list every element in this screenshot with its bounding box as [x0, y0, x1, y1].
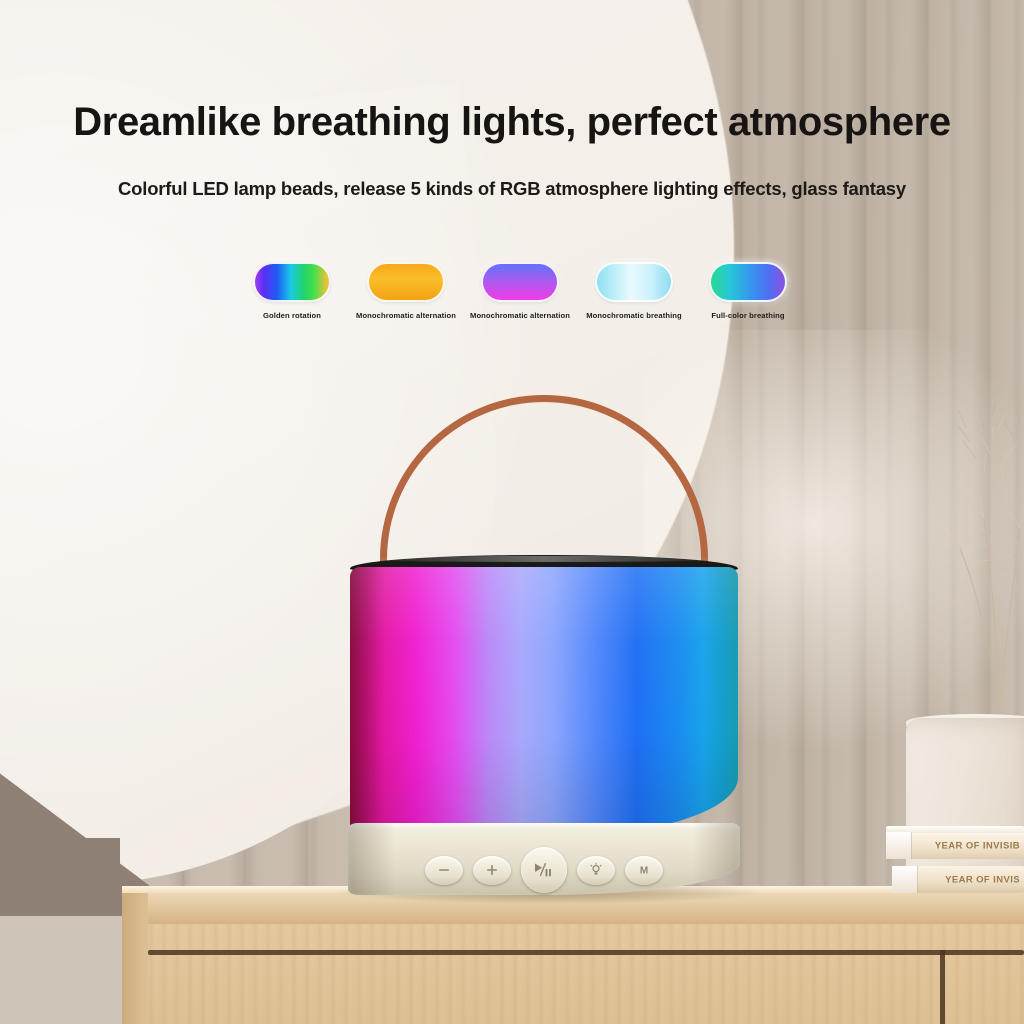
volume-up-button[interactable]: [473, 856, 511, 885]
play-pause-button[interactable]: [521, 847, 567, 893]
swatch-monochromatic-breathing[interactable]: [595, 262, 673, 302]
light-mode-item[interactable]: Full-color breathing: [696, 262, 800, 320]
mode-button[interactable]: M: [625, 856, 663, 885]
drawer-divider: [148, 950, 1024, 955]
page-subtitle: Colorful LED lamp beads, release 5 kinds…: [0, 178, 1024, 200]
swatch-full-color-breathing[interactable]: [709, 262, 787, 302]
book-title: YEAR OF INVISIB: [935, 840, 1020, 851]
speaker-top-highlight: [356, 556, 732, 562]
book-stack-item: YEAR OF INVIS: [892, 866, 1024, 893]
swatch-golden-rotation[interactable]: [253, 262, 331, 302]
swatch-monochromatic-alternation-1[interactable]: [367, 262, 445, 302]
light-mode-swatch-row: Golden rotation Monochromatic alternatio…: [240, 262, 800, 334]
scene-stage: Dreamlike breathing lights, perfect atmo…: [0, 0, 1024, 1024]
swatch-label: Golden rotation: [263, 311, 321, 320]
swatch-label: Monochromatic alternation: [470, 311, 570, 320]
light-mode-item[interactable]: Monochromatic alternation: [468, 262, 572, 320]
drawer-seam: [940, 950, 945, 1024]
swatch-label: Monochromatic alternation: [356, 311, 456, 320]
carry-handle-shading: [380, 395, 708, 573]
cabinet-left-edge: [122, 888, 148, 1024]
speaker-control-row: M: [348, 845, 740, 895]
swatch-monochromatic-alternation-2[interactable]: [481, 262, 559, 302]
book-stack-item: YEAR OF INVISIB: [886, 832, 1024, 859]
ceramic-vase: [906, 718, 1024, 890]
book-page-edge: [892, 866, 918, 893]
swatch-label: Monochromatic breathing: [586, 311, 682, 320]
light-mode-button[interactable]: [577, 856, 615, 885]
book-page-edge: [886, 832, 912, 859]
page-title: Dreamlike breathing lights, perfect atmo…: [0, 100, 1024, 145]
svg-text:M: M: [640, 866, 648, 877]
speaker-body-side-shading: [350, 567, 738, 837]
rgb-bluetooth-speaker[interactable]: M: [330, 395, 760, 905]
dried-pampas-grass: [880, 398, 1024, 728]
oak-sideboard: [122, 888, 1024, 1024]
light-mode-item[interactable]: Monochromatic alternation: [354, 262, 458, 320]
book-title: YEAR OF INVIS: [945, 874, 1020, 885]
volume-down-button[interactable]: [425, 856, 463, 885]
corner-shadow-fill: [0, 838, 120, 908]
light-mode-item[interactable]: Monochromatic breathing: [582, 262, 686, 320]
swatch-label: Full-color breathing: [711, 311, 784, 320]
light-mode-item[interactable]: Golden rotation: [240, 262, 344, 320]
